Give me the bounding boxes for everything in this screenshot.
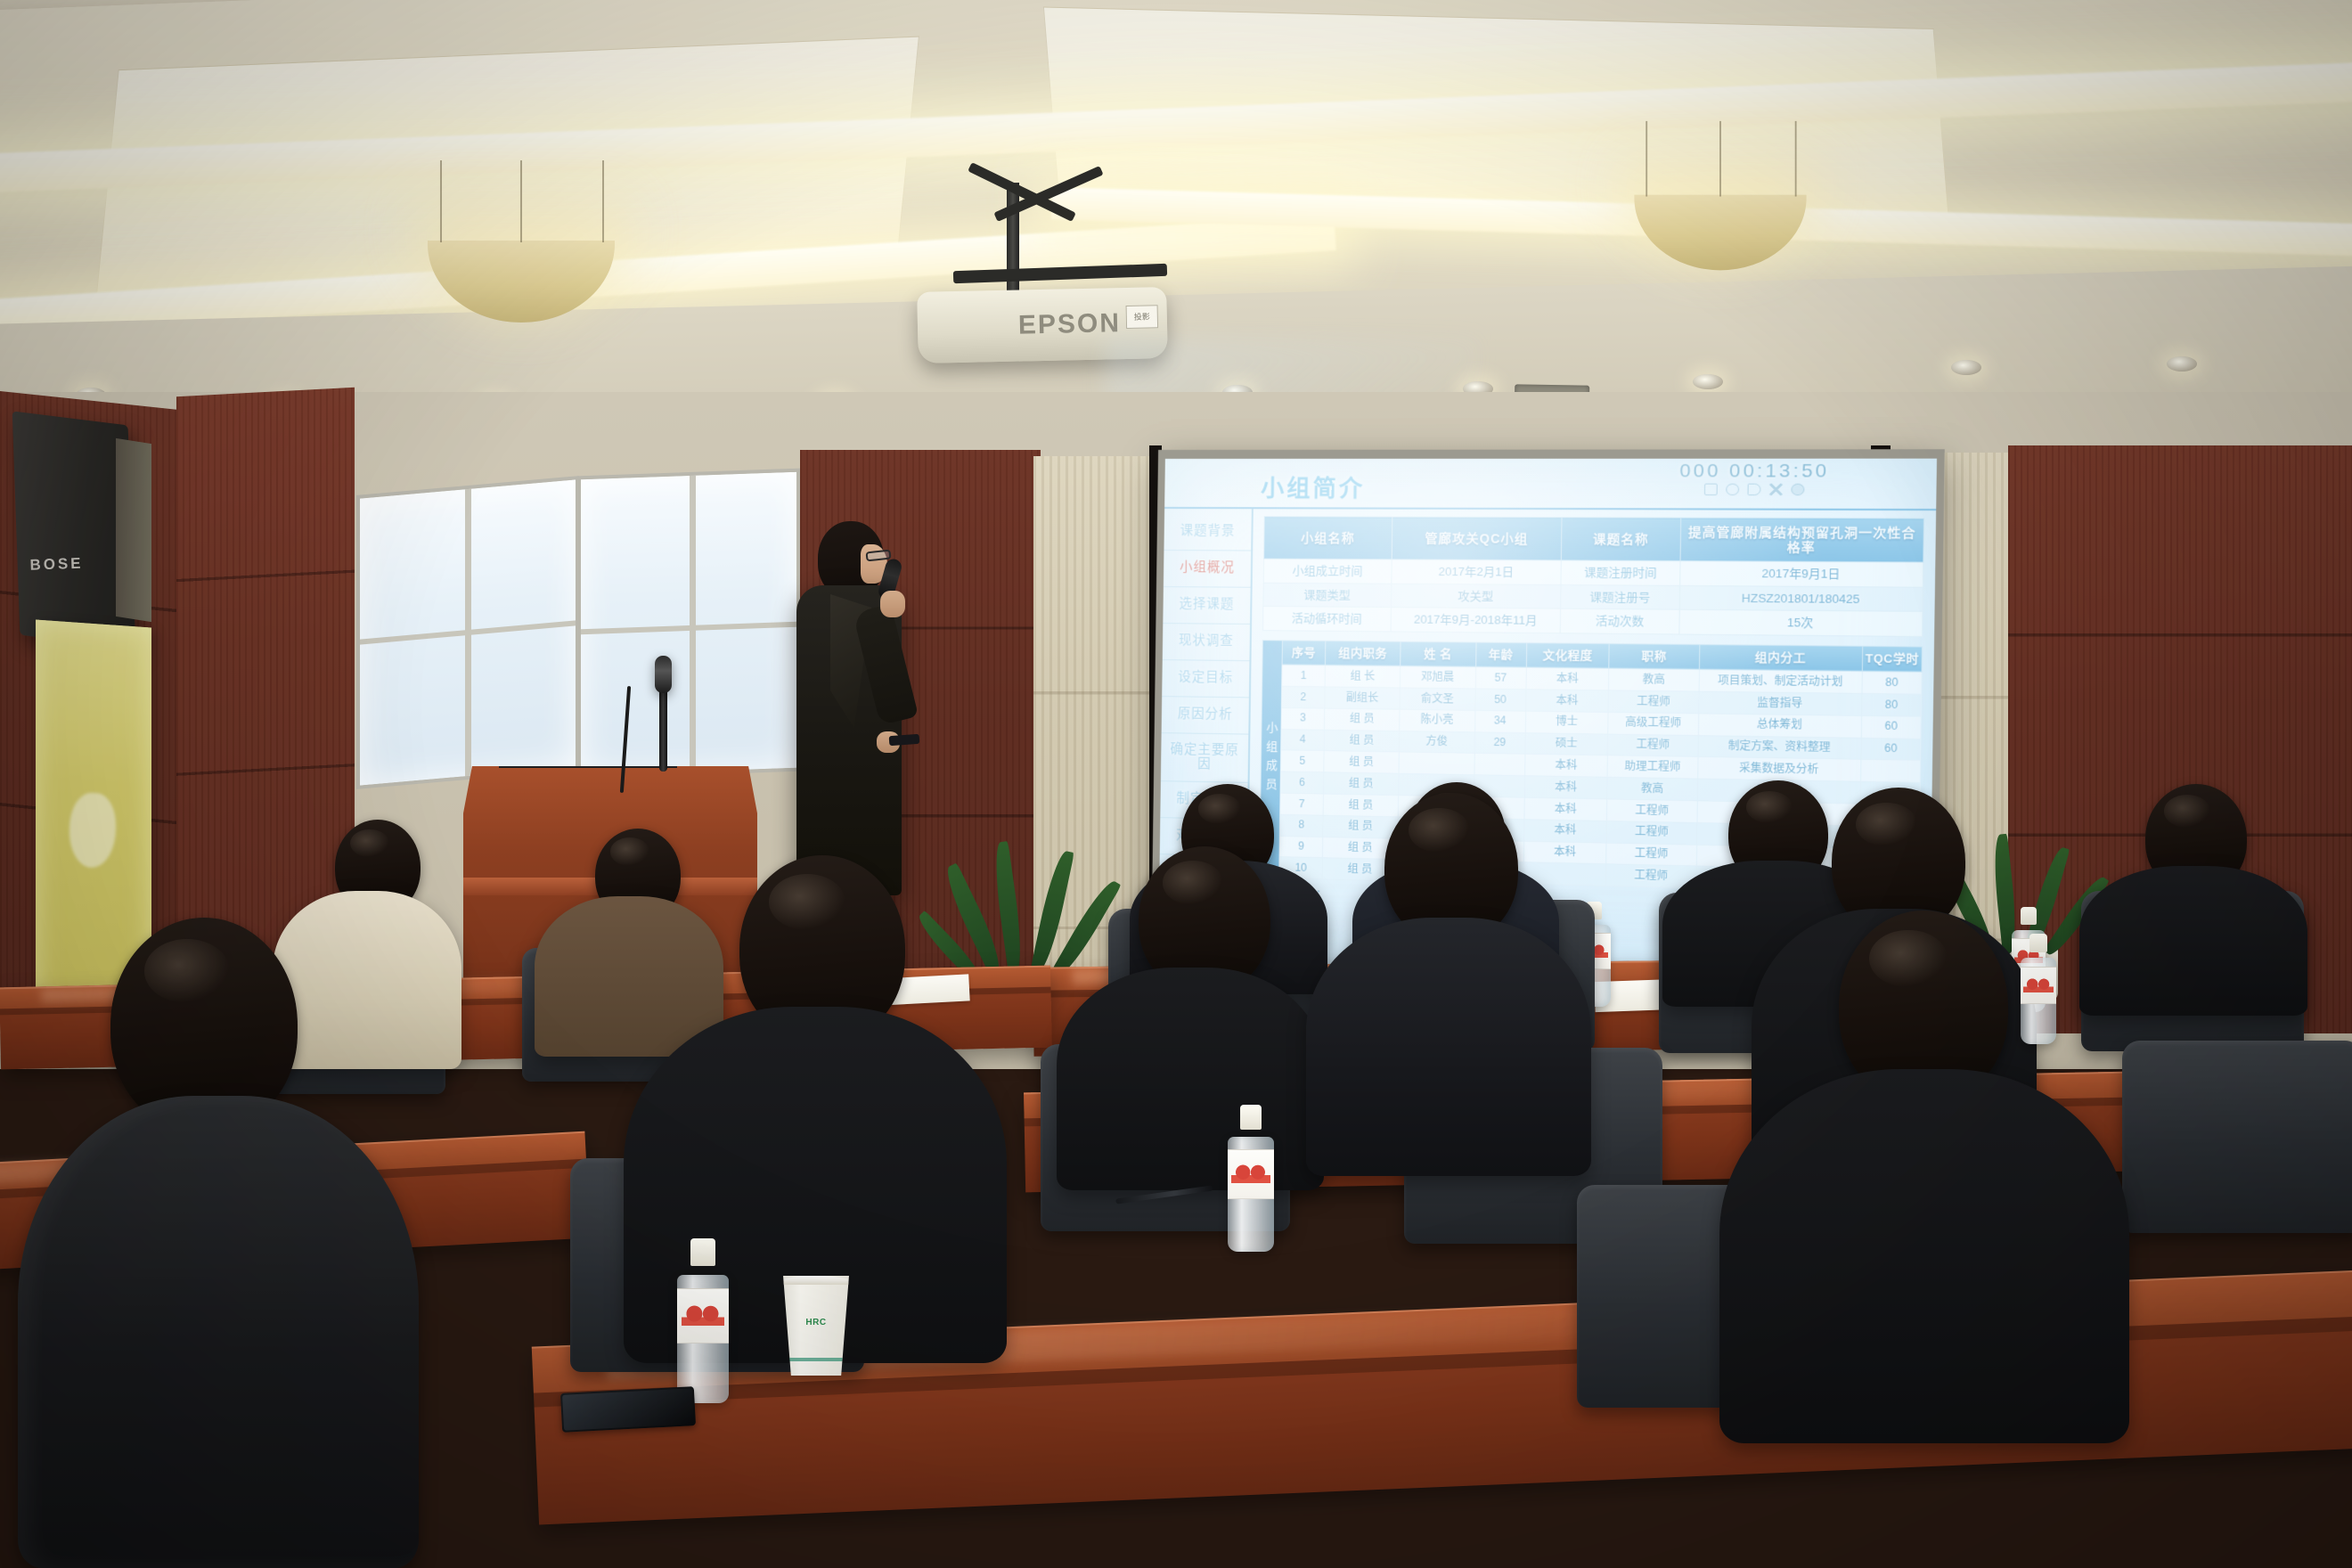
gooseneck-microphone <box>659 686 667 772</box>
smartphone <box>560 1386 696 1433</box>
sidebar-item-set-goals[interactable]: 设定目标 <box>1162 660 1249 698</box>
glasses-icon <box>866 550 892 562</box>
projector-brand-label: EPSON <box>1018 308 1122 340</box>
member-cell: 硕士 <box>1525 732 1608 755</box>
member-cell <box>1399 752 1474 775</box>
info-cell: 2017年2月1日 <box>1392 559 1561 584</box>
member-cell: 29 <box>1474 732 1525 755</box>
info-header-cell: 提高管廊附属结构预留孔洞一次性合格率 <box>1680 518 1923 562</box>
member-cell: 本科 <box>1524 797 1607 821</box>
water-bottle-front-left <box>677 1238 729 1403</box>
record-icon[interactable] <box>1726 484 1739 495</box>
member-cell: 本科 <box>1524 776 1607 799</box>
member-header-cell: 组内职务 <box>1326 641 1401 666</box>
member-header-cell: 文化程度 <box>1526 643 1609 669</box>
sidebar-item-main-causes[interactable]: 确定主要原因 <box>1161 733 1248 783</box>
pendant-light-left <box>428 241 615 323</box>
info-cell: 活动次数 <box>1560 609 1679 634</box>
member-cell: 总体筹划 <box>1698 714 1861 738</box>
member-cell: 助理工程师 <box>1607 755 1697 779</box>
member-cell: 项目策划、制定活动计划 <box>1699 670 1862 694</box>
water-bottle-mid <box>1228 1105 1274 1252</box>
presenter-person <box>784 521 918 895</box>
cup-brand-label: HRC <box>777 1318 855 1327</box>
sidebar-item-background[interactable]: 课题背景 <box>1164 514 1251 551</box>
wood-column <box>176 388 355 967</box>
info-cell: 课题注册时间 <box>1561 560 1680 585</box>
member-cell: 副组长 <box>1325 687 1400 709</box>
table-header-row: 小组名称 管廊攻关QC小组 课题名称 提高管廊附属结构预留孔洞一次性合格率 <box>1264 517 1924 562</box>
member-cell: 工程师 <box>1608 690 1698 714</box>
member-cell: 方俊 <box>1399 731 1474 753</box>
sidebar-item-cause-analysis[interactable]: 原因分析 <box>1162 697 1249 735</box>
next-icon[interactable] <box>1747 484 1760 495</box>
member-header-cell: 序号 <box>1282 641 1326 666</box>
member-cell: 80 <box>1862 693 1922 716</box>
window-center <box>577 469 800 780</box>
member-cell: 57 <box>1475 667 1526 690</box>
chair-third-4 <box>2122 1041 2352 1233</box>
sidebar-item-team-overview[interactable]: 小组概况 <box>1164 551 1251 588</box>
member-cell: 制定方案、资料整理 <box>1698 735 1861 759</box>
speaker-brand-label: BOSE <box>29 554 84 574</box>
member-cell: 采集数据及分析 <box>1697 757 1860 782</box>
sidebar-item-select-topic[interactable]: 选择课题 <box>1163 587 1250 625</box>
downlight-icon <box>1951 360 1981 375</box>
member-cell: 组 员 <box>1324 772 1399 796</box>
member-cell: 俞文圣 <box>1400 688 1475 710</box>
info-header-cell: 课题名称 <box>1561 518 1680 561</box>
window-left <box>356 476 579 789</box>
member-cell: 本科 <box>1524 755 1607 778</box>
downlight-icon <box>2167 356 2197 372</box>
member-cell: 本科 <box>1523 841 1606 864</box>
presentation-timer: 000 00:13:50 <box>1679 461 1830 495</box>
sidebar-item-status-survey[interactable]: 现状调查 <box>1163 624 1250 661</box>
member-cell: 34 <box>1474 710 1525 732</box>
stop-icon[interactable] <box>1704 484 1718 495</box>
member-header-cell: 组内分工 <box>1699 645 1863 672</box>
presenter-hand-upper <box>880 591 905 617</box>
member-cell: 2 <box>1281 686 1325 708</box>
timer-controls[interactable] <box>1679 484 1829 496</box>
member-cell: 组 员 <box>1324 751 1399 773</box>
member-cell: 4 <box>1281 729 1325 751</box>
member-cell: 监督指导 <box>1698 691 1861 715</box>
member-cell: 教高 <box>1607 778 1697 801</box>
member-cell: 5 <box>1280 750 1324 772</box>
member-cell <box>1860 760 1920 783</box>
info-cell: 2017年9月1日 <box>1680 561 1923 587</box>
member-cell: 9 <box>1279 836 1323 858</box>
member-cell: 1 <box>1282 665 1326 687</box>
ceiling <box>0 0 2352 428</box>
timer-value: 000 00:13:50 <box>1679 461 1830 483</box>
member-cell: 本科 <box>1523 820 1606 843</box>
member-cell: 组 员 <box>1325 708 1400 731</box>
info-cell: HZSZ201801/180425 <box>1679 585 1923 612</box>
member-cell: 邓旭晨 <box>1400 666 1475 689</box>
member-cell: 6 <box>1280 772 1324 794</box>
member-cell: 博士 <box>1525 711 1608 734</box>
pendant-light-right <box>1634 195 1806 271</box>
projector-tag-label: 投影 <box>1126 305 1159 329</box>
shuffle-icon[interactable] <box>1769 484 1783 495</box>
member-cell: 本科 <box>1526 667 1609 690</box>
member-cell: 高级工程师 <box>1608 712 1698 735</box>
info-cell: 课题注册号 <box>1561 584 1680 609</box>
member-cell: 教高 <box>1609 669 1699 692</box>
member-cell: 80 <box>1862 672 1922 695</box>
member-cell: 60 <box>1861 715 1921 739</box>
info-cell: 课题类型 <box>1263 583 1392 608</box>
team-info-table: 小组名称 管廊攻关QC小组 课题名称 提高管廊附属结构预留孔洞一次性合格率 小组… <box>1262 516 1924 637</box>
member-cell: 陈小亮 <box>1400 709 1475 731</box>
member-cell: 60 <box>1861 738 1921 761</box>
member-header-cell: 年龄 <box>1475 642 1526 667</box>
member-cell: 7 <box>1280 793 1324 815</box>
settings-icon[interactable] <box>1791 484 1804 495</box>
member-cell: 组 长 <box>1325 666 1400 688</box>
info-cell: 攻关型 <box>1392 584 1561 608</box>
member-header-cell: TQC学时 <box>1862 646 1922 672</box>
member-cell: 工程师 <box>1606 843 1696 867</box>
info-cell: 15次 <box>1679 610 1923 637</box>
member-cell: 组 员 <box>1323 815 1398 838</box>
member-cell: 3 <box>1281 707 1325 730</box>
slide-header: 小组简介 000 00:13:50 <box>1164 459 1937 510</box>
info-header-cell: 管廊攻关QC小组 <box>1392 517 1562 560</box>
member-header-cell: 职称 <box>1609 644 1700 670</box>
info-cell: 小组成立时间 <box>1263 559 1392 584</box>
member-cell: 工程师 <box>1608 734 1698 757</box>
member-cell: 工程师 <box>1606 821 1696 845</box>
info-cell: 2017年9月-2018年11月 <box>1391 608 1560 633</box>
slide-title: 小组简介 <box>1261 470 1366 503</box>
member-header-cell: 姓 名 <box>1401 641 1476 667</box>
member-cell: 8 <box>1279 814 1323 837</box>
member-cell <box>1474 754 1524 776</box>
member-cell: 组 员 <box>1323 794 1398 817</box>
presenter-remote-clicker <box>889 734 920 746</box>
downlight-icon <box>1693 374 1723 389</box>
member-cell: 50 <box>1475 689 1526 711</box>
info-cell: 活动循环时间 <box>1262 607 1391 632</box>
member-table: 序号 组内职务 姓 名 年龄 文化程度 职称 组内分工 TQC学时 1 <box>1278 640 1923 894</box>
table-row: 活动循环时间 2017年9月-2018年11月 活动次数 15次 <box>1262 607 1923 637</box>
speaker-bracket <box>116 438 151 622</box>
epson-projector: EPSON 投影 <box>917 287 1168 363</box>
info-header-cell: 小组名称 <box>1264 517 1392 559</box>
member-cell: 组 员 <box>1324 730 1399 752</box>
water-bottle-right-back <box>2021 934 2056 1044</box>
member-cell: 工程师 <box>1607 799 1697 822</box>
conference-room-scene: EPSON 投影 BOSE 小组简介 000 00:13:50 <box>0 0 2352 1568</box>
member-cell: 本科 <box>1525 690 1608 713</box>
